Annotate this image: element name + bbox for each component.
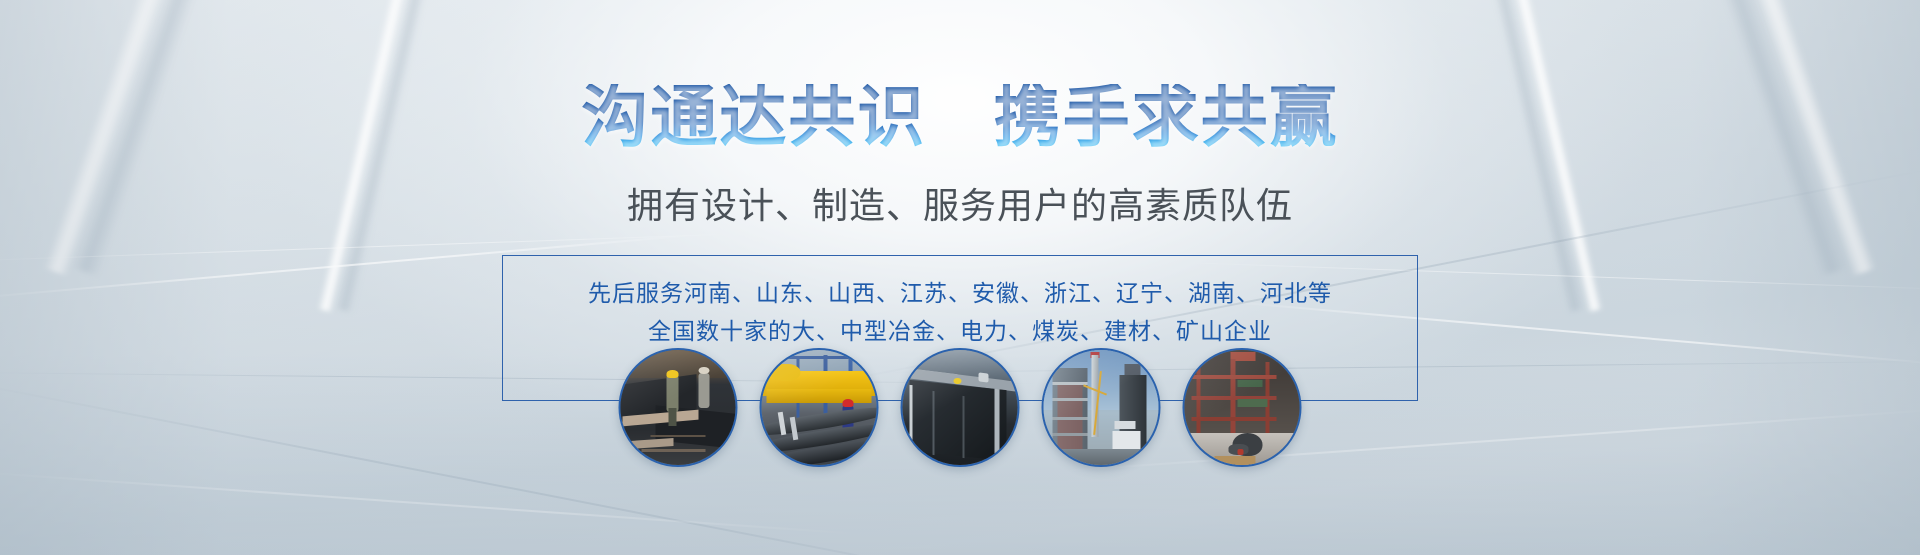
thumbnail-steel-plate-installation[interactable] bbox=[619, 348, 738, 467]
service-info-line-2: 全国数十家的大、中型冶金、电力、煤炭、建材、矿山企业 bbox=[503, 312, 1417, 350]
power-plant-construction-photo bbox=[1044, 350, 1159, 465]
project-thumbnail-row bbox=[619, 348, 1302, 467]
headline-part-left: 沟通达共识 bbox=[581, 80, 926, 155]
steel-silo-structure-photo bbox=[903, 350, 1018, 465]
service-info-line-1: 先后服务河南、山东、山西、江苏、安徽、浙江、辽宁、湖南、河北等 bbox=[503, 274, 1417, 312]
yellow-machinery-pipeline-photo bbox=[762, 350, 877, 465]
promo-banner: 沟通达共识 携手求共赢 拥有设计、制造、服务用户的高素质队伍 先后服务河南、山东… bbox=[0, 0, 1920, 555]
steel-plate-installation-photo bbox=[621, 350, 736, 465]
thumbnail-power-plant-construction[interactable] bbox=[1042, 348, 1161, 467]
headline-part-right: 携手求共赢 bbox=[994, 80, 1339, 155]
service-info-lines: 先后服务河南、山东、山西、江苏、安徽、浙江、辽宁、湖南、河北等 全国数十家的大、… bbox=[503, 256, 1417, 350]
banner-subtitle: 拥有设计、制造、服务用户的高素质队伍 bbox=[627, 177, 1293, 229]
workshop-equipment-photo bbox=[1185, 350, 1300, 465]
thumbnail-steel-silo-structure[interactable] bbox=[901, 348, 1020, 467]
thumbnail-workshop-equipment[interactable] bbox=[1183, 348, 1302, 467]
thumbnail-yellow-machinery-pipeline[interactable] bbox=[760, 348, 879, 467]
banner-headline: 沟通达共识 携手求共赢 bbox=[581, 84, 1338, 151]
banner-content: 沟通达共识 携手求共赢 拥有设计、制造、服务用户的高素质队伍 先后服务河南、山东… bbox=[0, 0, 1920, 555]
